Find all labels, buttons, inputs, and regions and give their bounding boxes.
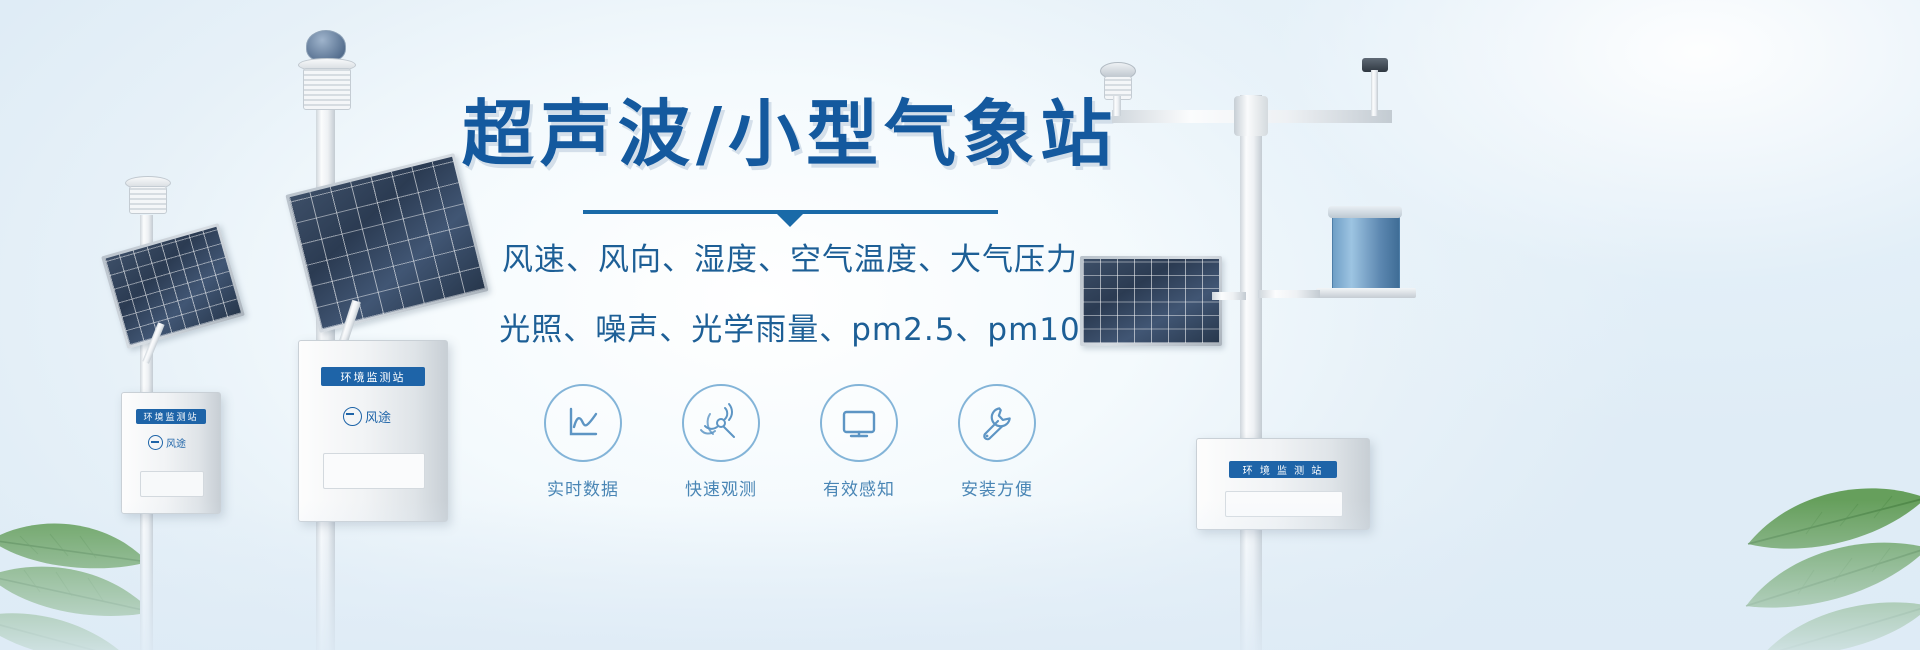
station-center-sensor-shield bbox=[303, 68, 351, 110]
monitor-screen-icon bbox=[839, 403, 879, 443]
line-chart-icon bbox=[563, 403, 603, 443]
station-right-gauge-arm bbox=[1258, 290, 1320, 298]
feature-item-realtime-data[interactable]: 实时数据 bbox=[537, 384, 629, 500]
wrench-gear-icon bbox=[976, 402, 1018, 444]
subtitle-line-1: 风速、风向、湿度、空气温度、大气压力 bbox=[440, 236, 1140, 284]
station-right-cabinet-label: 环 境 监 测 站 bbox=[1229, 461, 1337, 478]
subtitle-line-2: 光照、噪声、光学雨量、pm2.5、pm10 bbox=[440, 306, 1140, 354]
radar-signal-icon bbox=[700, 402, 742, 444]
feature-label: 快速观测 bbox=[675, 475, 767, 500]
station-left-cabinet: 环境监测站 风途 bbox=[121, 392, 221, 514]
station-left-sensor-body bbox=[129, 186, 167, 214]
feature-item-easy-installation[interactable]: 安装方便 bbox=[951, 384, 1043, 500]
station-right-collar bbox=[1234, 96, 1268, 136]
page-title: 超声波/小型气象站 bbox=[440, 96, 1140, 174]
station-left-brand: 风途 bbox=[148, 435, 186, 450]
feature-item-fast-observation[interactable]: 快速观测 bbox=[675, 384, 767, 500]
feature-icon-circle bbox=[820, 384, 898, 462]
hero-banner: 环境监测站 风途 环境监测站 风途 bbox=[0, 0, 1920, 650]
brand-logo-icon bbox=[343, 407, 362, 426]
station-right-panel-arm bbox=[1212, 292, 1246, 300]
brand-name: 风途 bbox=[365, 407, 391, 426]
feature-list: 实时数据 快 bbox=[440, 384, 1140, 500]
station-right-vent bbox=[1225, 491, 1343, 517]
feature-label: 实时数据 bbox=[537, 475, 629, 500]
brand-logo-icon bbox=[148, 435, 163, 450]
station-center-vent bbox=[323, 453, 425, 489]
station-right-solar-panel bbox=[1080, 256, 1222, 346]
feature-item-effective-sensing[interactable]: 有效感知 bbox=[813, 384, 905, 500]
feature-label: 有效感知 bbox=[813, 475, 905, 500]
station-center-cabinet: 环境监测站 风途 bbox=[298, 340, 448, 522]
station-left-cabinet-label: 环境监测站 bbox=[136, 409, 206, 424]
station-left-vent bbox=[140, 471, 204, 497]
station-center-cabinet-label: 环境监测站 bbox=[321, 367, 425, 386]
station-right-rain-gauge-rim bbox=[1328, 206, 1402, 218]
feature-icon-circle bbox=[958, 384, 1036, 462]
triangle-down-icon bbox=[776, 213, 804, 227]
hero-text-block: 超声波/小型气象站 风速、风向、湿度、空气温度、大气压力 光照、噪声、光学雨量、… bbox=[440, 96, 1140, 500]
brand-name: 风途 bbox=[166, 435, 186, 450]
station-right-vane-stem bbox=[1371, 70, 1378, 116]
station-right-ultrasonic-stem bbox=[1113, 96, 1121, 116]
title-divider bbox=[583, 210, 998, 214]
station-right-mast bbox=[1240, 95, 1262, 650]
station-right-cabinet: 环 境 监 测 站 bbox=[1196, 438, 1370, 530]
station-right-rain-gauge bbox=[1332, 212, 1400, 292]
feature-icon-circle bbox=[544, 384, 622, 462]
palm-leaf-right-icon bbox=[1630, 300, 1920, 650]
station-center-brand: 风途 bbox=[343, 407, 391, 426]
station-right-gauge-bracket bbox=[1316, 288, 1416, 298]
feature-icon-circle bbox=[682, 384, 760, 462]
feature-label: 安装方便 bbox=[951, 475, 1043, 500]
